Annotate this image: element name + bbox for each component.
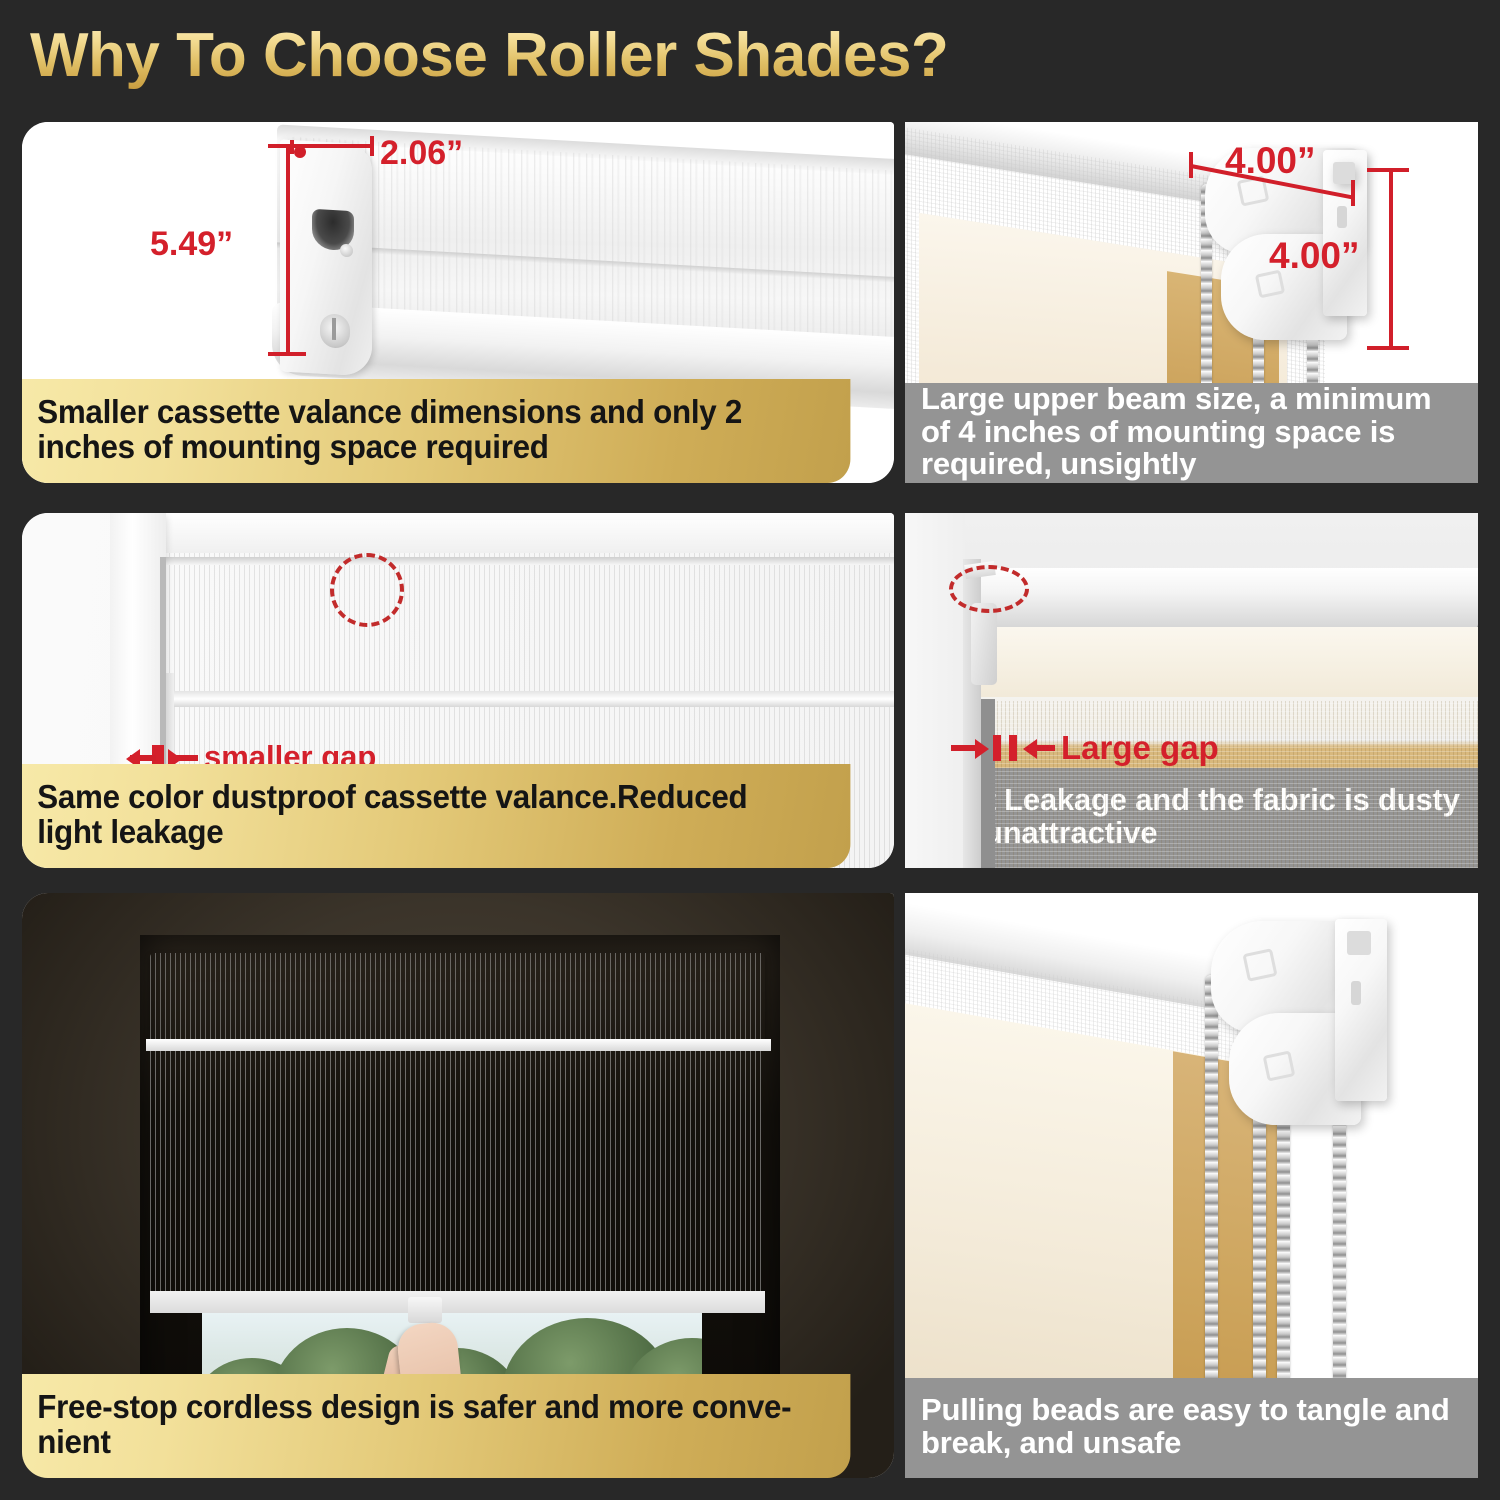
caption-good-cassette-dimensions: Smaller cassette valance dimensions and … xyxy=(22,379,850,483)
dimension-width-label: 4.00” xyxy=(1225,140,1316,182)
caption-good-cordless: Free-stop cordless design is safer and m… xyxy=(22,1374,850,1478)
gap-label: Large gap xyxy=(1061,729,1219,767)
caption-text: Pulling beads are easy to tangle and bre… xyxy=(921,1394,1462,1460)
bead-chain xyxy=(1205,975,1218,1445)
dimension-width-label: 2.06” xyxy=(380,134,463,173)
highlight-circle xyxy=(330,553,404,627)
photo-large-gap: Large gap xyxy=(905,513,1478,868)
caption-good-smaller-gap: Same color dustproof cassette valance.Re… xyxy=(22,764,850,868)
page-title: Why To Choose Roller Shades? xyxy=(30,20,948,91)
panel-good-cordless: Free-stop cordless design is safer and m… xyxy=(22,893,894,1478)
caption-text: Same color dustproof cassette valance.Re… xyxy=(37,780,812,850)
caption-bad-large-beam: Large upper beam size, a minimum of 4 in… xyxy=(905,383,1478,483)
highlight-circle xyxy=(949,565,1029,613)
caption-text: Large upper beam size, a minimum of 4 in… xyxy=(921,383,1462,482)
dimension-height-label: 5.49” xyxy=(150,225,233,264)
infographic-page: Why To Choose Roller Shades? 2.06” 5.49” xyxy=(0,0,1500,1500)
panel-good-smaller-gap: smaller gap Same color dustproof cassett… xyxy=(22,513,894,868)
panel-bad-large-gap: Large gap Light Leakage and the fabric i… xyxy=(905,513,1478,868)
panel-good-cassette-dimensions: 2.06” 5.49” Smaller cassette valance dim… xyxy=(22,122,894,483)
caption-text: Free-stop cordless design is safer and m… xyxy=(37,1390,812,1460)
panel-bad-large-beam: 4.00” 4.00” Large upper beam size, a min… xyxy=(905,122,1478,483)
caption-bad-pull-beads: Pulling beads are easy to tangle and bre… xyxy=(905,1378,1478,1478)
shade-pull-grip xyxy=(408,1297,442,1323)
dimension-height-label: 4.00” xyxy=(1269,235,1360,277)
caption-text: Smaller cassette valance dimensions and … xyxy=(37,395,812,465)
panel-bad-pull-beads: Pulling beads are easy to tangle and bre… xyxy=(905,893,1478,1478)
